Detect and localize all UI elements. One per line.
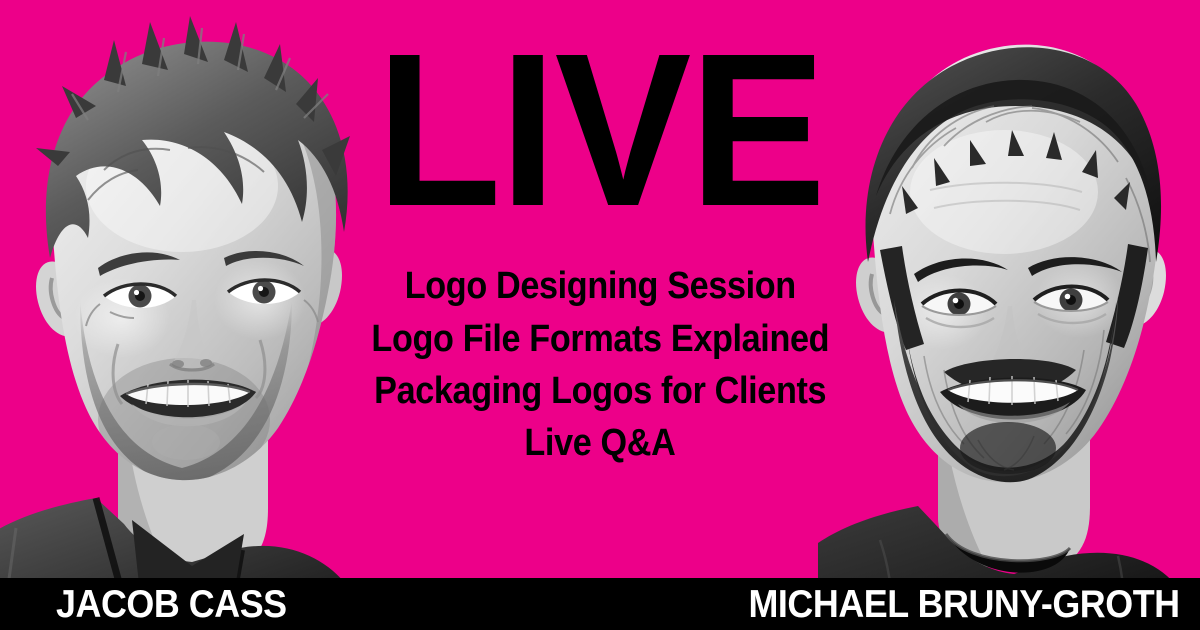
list-item: Packaging Logos for Clients bbox=[374, 371, 826, 411]
presenter-right-name: MICHAEL BRUNY-GROTH bbox=[749, 585, 1180, 624]
presenter-name-bar: JACOB CASS MICHAEL BRUNY-GROTH bbox=[0, 578, 1200, 630]
list-item: Live Q&A bbox=[524, 423, 675, 463]
presenter-left-name: JACOB CASS bbox=[56, 585, 287, 624]
topic-list: Logo Designing Session Logo File Formats… bbox=[300, 266, 900, 463]
list-item: Logo Designing Session bbox=[404, 266, 795, 306]
banner-content: LIVE Logo Designing Session Logo File Fo… bbox=[300, 0, 900, 578]
page-title: LIVE bbox=[376, 44, 824, 218]
list-item: Logo File Formats Explained bbox=[371, 319, 829, 359]
live-session-banner: LIVE Logo Designing Session Logo File Fo… bbox=[0, 0, 1200, 630]
